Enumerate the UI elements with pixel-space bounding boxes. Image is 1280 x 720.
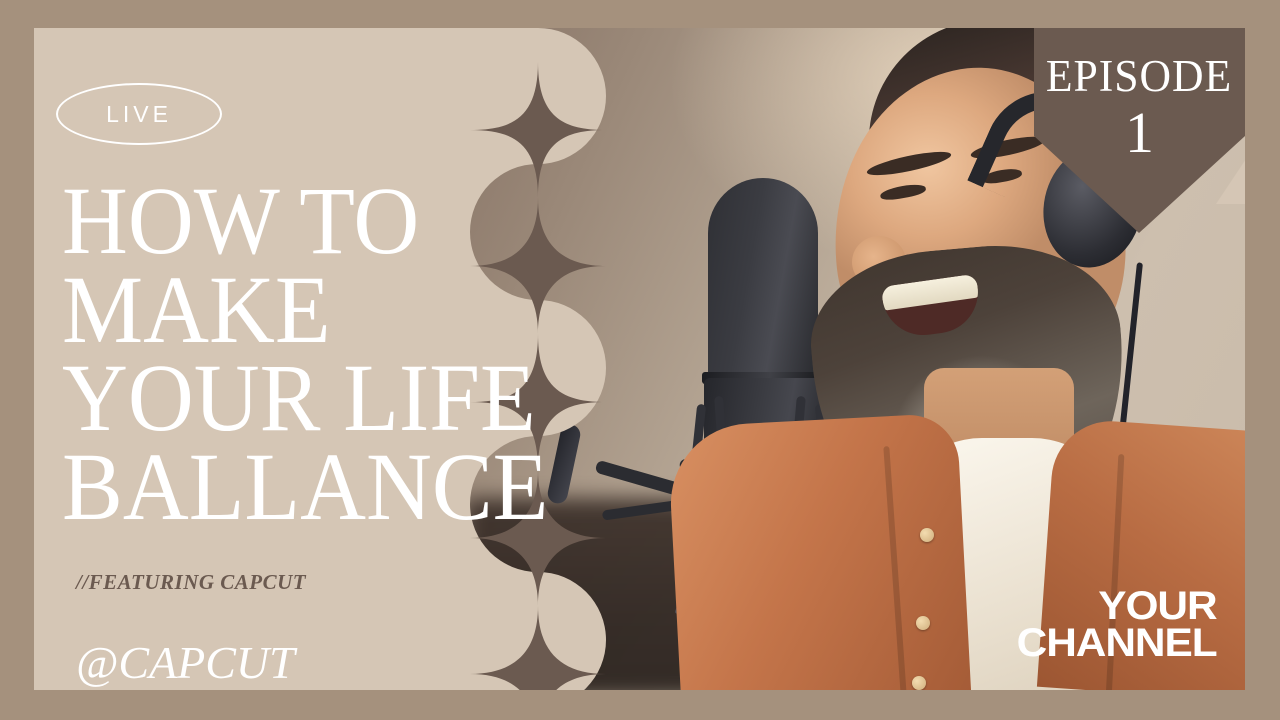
social-handle[interactable]: @CAPCUT xyxy=(76,636,295,689)
live-badge[interactable]: LIVE xyxy=(56,83,222,145)
title-line-1: HOW TO xyxy=(62,180,518,263)
episode-badge: EPISODE 1 xyxy=(1034,28,1245,233)
thumbnail-canvas: LIVE HOW TO MAKE YOUR LIFE BALLANCE //FE… xyxy=(0,0,1280,720)
live-label: LIVE xyxy=(106,101,172,128)
title-line-3: YOUR LIFE xyxy=(62,357,518,440)
title-line-2: MAKE xyxy=(62,269,518,352)
channel-name: YOUR CHANNEL xyxy=(1028,588,1217,662)
page-title: HOW TO MAKE YOUR LIFE BALLANCE xyxy=(62,180,542,534)
inner-card: LIVE HOW TO MAKE YOUR LIFE BALLANCE //FE… xyxy=(34,28,1245,690)
featuring-text: //FEATURING CAPCUT xyxy=(76,570,306,595)
channel-line-2: CHANNEL xyxy=(1017,625,1217,662)
channel-line-1: YOUR xyxy=(1017,588,1217,625)
title-line-4: BALLANCE xyxy=(62,446,518,529)
jacket-left xyxy=(667,413,971,690)
